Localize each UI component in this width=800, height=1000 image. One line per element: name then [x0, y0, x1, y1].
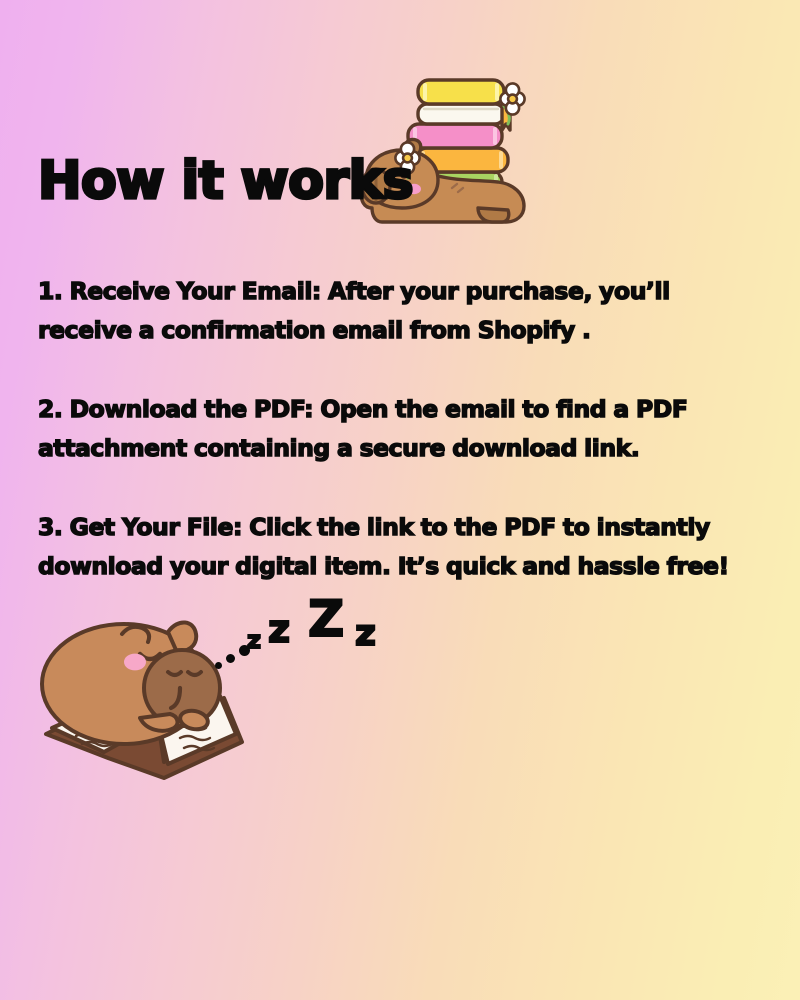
zzz-dot-1 — [215, 662, 222, 669]
step-item-1: 1. Receive Your Email: After your purcha… — [38, 272, 762, 350]
yellow-book — [418, 80, 504, 104]
title-row: How it works — [38, 150, 768, 250]
zzz-letter-4: z — [355, 616, 376, 652]
zzz-letter-1: z — [247, 628, 261, 652]
sleeping-capybara-body — [42, 622, 220, 744]
step-item-2: 2. Download the PDF: Open the email to f… — [38, 390, 762, 468]
sleep-zzz: z z Z z — [212, 590, 422, 690]
poster-canvas: How it works 1. Receive Your Email: Afte… — [0, 0, 800, 1000]
page-title: How it works — [38, 150, 413, 212]
zzz-letter-2: z — [268, 610, 290, 648]
zzz-dot-2 — [226, 654, 235, 663]
white-book — [418, 104, 504, 124]
steps-list: 1. Receive Your Email: After your purcha… — [38, 272, 762, 586]
zzz-letter-3: Z — [308, 594, 344, 644]
step-item-3: 3. Get Your File: Click the link to the … — [38, 508, 762, 586]
